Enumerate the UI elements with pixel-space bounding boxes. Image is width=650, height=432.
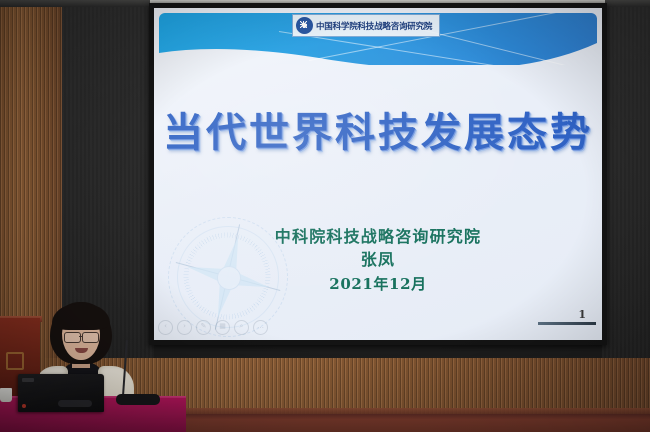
eyeglasses-bridge xyxy=(79,336,83,337)
slide-title: 当代世界科技发展态势 xyxy=(154,100,602,158)
next-slide-button[interactable]: › xyxy=(177,320,192,335)
subtitle-date: 2021年12月 xyxy=(154,272,602,296)
slide-footer-rule xyxy=(538,322,596,325)
podium-emblem xyxy=(6,352,24,370)
presentation-slide[interactable]: 中国科学院科技战略咨询研究院 当代世界科技发展态势 中科院科技战略咨询研究院 张… xyxy=(154,8,602,340)
microphone-base xyxy=(116,394,160,405)
hair-fringe xyxy=(52,304,110,330)
zoom-button[interactable]: ⌕ xyxy=(234,320,249,335)
eyeglasses-lens-right xyxy=(82,332,99,343)
subtitle-organization: 中科院科技战略咨询研究院 xyxy=(154,226,602,248)
subtitle-presenter-name: 张凤 xyxy=(154,248,602,272)
laptop-logo xyxy=(22,378,34,382)
more-options-button[interactable]: … xyxy=(253,320,268,335)
slide-page-number: 1 xyxy=(578,308,586,321)
cas-emblem-icon xyxy=(296,17,313,34)
organization-logo-plate: 中国科学院科技战略咨询研究院 xyxy=(292,14,440,37)
glasses-case xyxy=(58,400,92,407)
dark-panel-right xyxy=(602,0,650,358)
slide-grid-button[interactable]: ▦ xyxy=(215,320,230,335)
pen-tool-button[interactable]: ✎ xyxy=(196,320,211,335)
paper-cup xyxy=(0,388,12,402)
slideshow-control-bar[interactable]: ‹ › ✎ ▦ ⌕ … xyxy=(158,320,268,335)
organization-banner-text: 中国科学院科技战略咨询研究院 xyxy=(316,20,432,32)
slide-subtitle-block: 中科院科技战略咨询研究院 张凤 2021年12月 xyxy=(154,226,602,296)
laptop-indicator-light xyxy=(22,404,26,408)
lecture-hall-photo: 中国科学院科技战略咨询研究院 当代世界科技发展态势 中科院科技战略咨询研究院 张… xyxy=(0,0,650,432)
eyeglasses-lens-left xyxy=(64,332,81,343)
